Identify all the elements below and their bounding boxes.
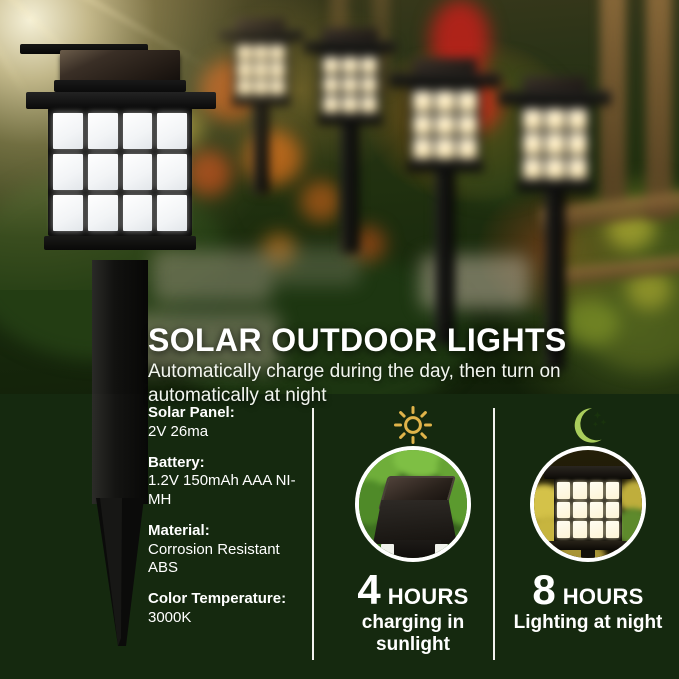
stat-unit: HOURS [563, 584, 644, 610]
lantern-post-lower [92, 394, 148, 504]
lantern-neck-closeup [389, 540, 441, 562]
sun-icon [328, 404, 498, 446]
lantern-roof-top [54, 80, 186, 92]
moon-stars-icon [503, 404, 673, 446]
lantern-window-grid [523, 109, 587, 179]
background-lantern [216, 16, 306, 196]
lantern-roof [304, 41, 396, 53]
vertical-divider [312, 408, 314, 660]
lantern-roof-closeup [373, 500, 457, 544]
spec-item: Material: Corrosion Resistant ABS [148, 522, 308, 578]
stat-number: 8 [532, 571, 555, 609]
background-lantern [385, 56, 505, 346]
spec-value: 3000K [148, 609, 308, 628]
lantern-roof [219, 30, 303, 41]
stat-description: Lighting at night [503, 612, 673, 634]
lantern-post [92, 260, 148, 398]
stat-value-row: 8 HOURS [503, 571, 673, 610]
stat-unit: HOURS [388, 584, 469, 610]
ground-spike [92, 498, 148, 646]
spec-list: Solar Panel: 2V 26ma Battery: 1.2V 150mA… [148, 404, 308, 640]
lantern-window-grid [237, 45, 285, 95]
lantern-window-grid [53, 113, 187, 231]
solar-panel-cap [413, 58, 477, 73]
stat-lighting: 8 HOURS Lighting at night [503, 404, 673, 634]
product-marketing-image: SOLAR OUTDOOR LIGHTS Automatically charg… [0, 0, 679, 679]
lantern-base [44, 236, 196, 250]
lantern-pane-closeup [435, 544, 448, 560]
lantern-post [435, 172, 455, 344]
lantern-base [406, 163, 484, 172]
lantern-window-grid [413, 91, 477, 159]
solar-panel-closeup-photo [355, 446, 471, 562]
spec-item: Color Temperature: 3000K [148, 590, 308, 628]
spec-value: 1.2V 150mAh AAA NI-MH [148, 472, 308, 510]
page-title: SOLAR OUTDOOR LIGHTS [148, 324, 567, 356]
lantern-base [231, 99, 291, 106]
stat-number: 4 [357, 571, 380, 609]
lantern-post [341, 125, 359, 253]
lantern-roof-closeup [544, 466, 632, 479]
page-subtitle: Automatically charge during the day, the… [148, 360, 568, 409]
spec-item: Solar Panel: 2V 26ma [148, 404, 308, 442]
lantern-base [317, 117, 383, 125]
lantern-base [516, 183, 594, 192]
lantern-post [253, 106, 269, 194]
stat-description: charging in sunlight [328, 612, 498, 655]
solar-panel-cap [523, 76, 587, 91]
solar-panel-cap [235, 18, 285, 30]
lantern-window-grid [323, 57, 377, 113]
lantern-base-closeup [548, 541, 628, 550]
stat-charging: 4 HOURS charging in sunlight [328, 404, 498, 655]
stat-value-row: 4 HOURS [328, 571, 498, 610]
spec-label: Material: [148, 522, 308, 541]
spec-label: Color Temperature: [148, 590, 308, 609]
lantern-roof [499, 91, 611, 105]
spec-label: Battery: [148, 454, 308, 473]
lantern-post-closeup [581, 550, 595, 562]
lantern-roof [389, 73, 501, 87]
lantern-pane-closeup [381, 544, 394, 560]
solar-panel-cap [60, 50, 180, 84]
spec-item: Battery: 1.2V 150mAh AAA NI-MH [148, 454, 308, 510]
spec-value: 2V 26ma [148, 423, 308, 442]
solar-panel-cap [322, 28, 378, 41]
lantern-roof [26, 92, 216, 109]
night-lantern-photo [530, 446, 646, 562]
spec-value: Corrosion Resistant ABS [148, 541, 308, 579]
lantern-window-grid-closeup [557, 482, 619, 538]
